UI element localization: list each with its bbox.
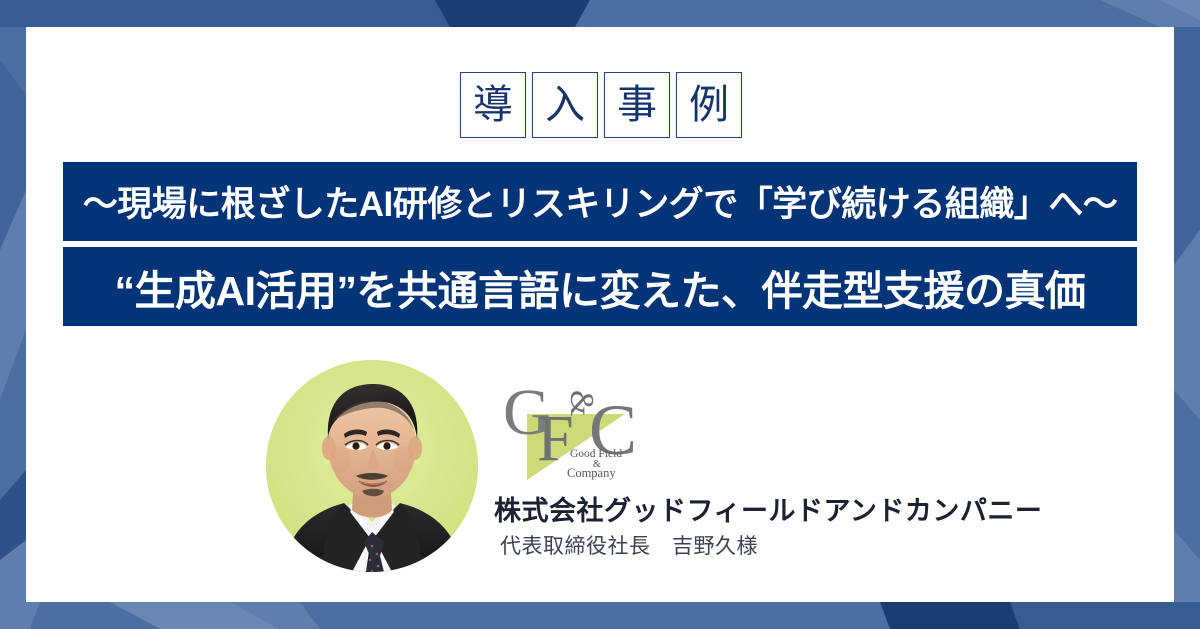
frame-bottom-band — [0, 602, 1200, 629]
frame-top-band — [0, 0, 1200, 27]
person-role-and-name: 代表取締役社長 吉野久様 — [500, 533, 1114, 560]
frame-right-band — [1174, 27, 1200, 602]
title-banner: “生成AI活用”を共通言語に変えた、伴走型支援の真価 — [63, 247, 1137, 326]
frame-left-band — [0, 27, 26, 602]
case-study-badge: 導 入 事 例 — [460, 72, 742, 138]
logo-ampersand: & — [563, 390, 600, 416]
logo-tagline-line2: Company — [567, 466, 616, 480]
badge-char-2: 入 — [532, 72, 598, 138]
company-name: 株式会社グッドフィールドアンドカンパニー — [494, 495, 1114, 529]
badge-char-3: 事 — [604, 72, 670, 138]
subtitle-banner: 〜現場に根ざしたAI研修とリスキリングで「学び続ける組織」へ〜 — [63, 162, 1137, 241]
gfc-logo-mark: G F C & Good Field & Company — [497, 372, 662, 487]
avatar — [266, 360, 478, 572]
company-logo: G F C & Good Field & Company — [497, 372, 662, 487]
badge-char-1: 導 — [460, 72, 526, 138]
badge-char-4: 例 — [676, 72, 742, 138]
portrait-photo — [266, 360, 478, 572]
profile-text-block: 株式会社グッドフィールドアンドカンパニー 代表取締役社長 吉野久様 — [494, 495, 1114, 560]
case-study-banner-canvas: 導 入 事 例 〜現場に根ざしたAI研修とリスキリングで「学び続ける組織」へ〜 … — [0, 0, 1200, 629]
